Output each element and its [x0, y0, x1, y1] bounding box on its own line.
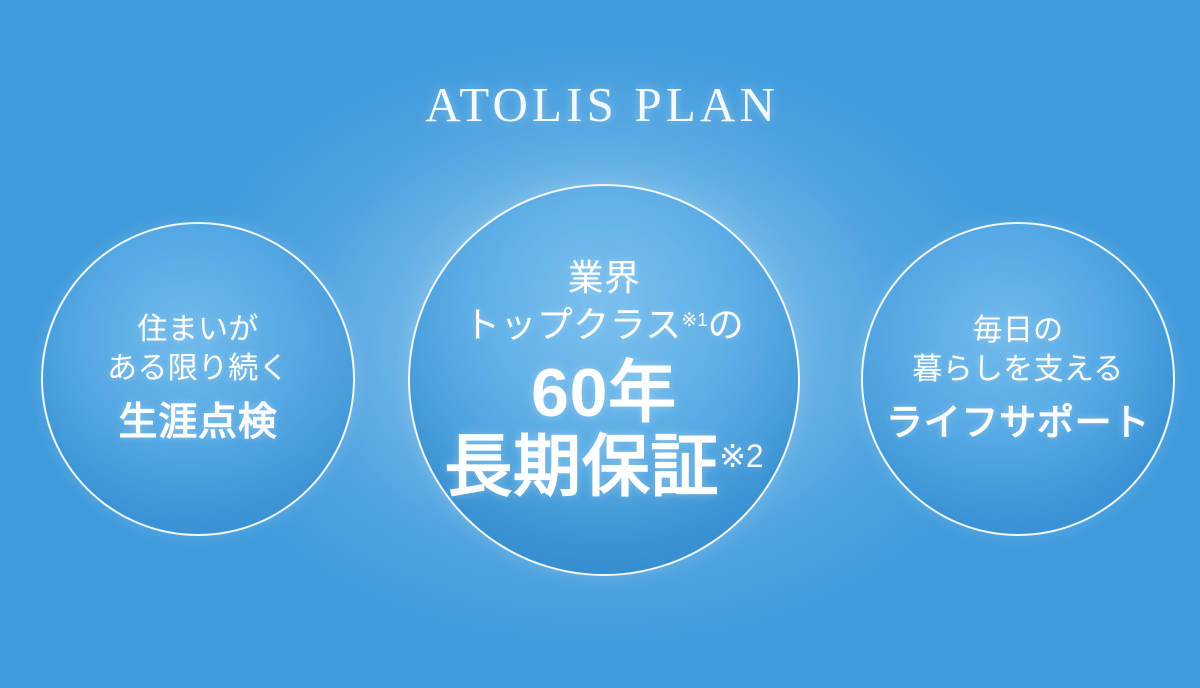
- center-circle-line-2-tail: の: [708, 304, 744, 345]
- left-circle-headline: 生涯点検: [118, 398, 277, 449]
- feature-circle-60-year-warranty: 業界 トップクラス※1の 60年 長期保証※2: [408, 184, 800, 576]
- right-circle-headline: ライフサポート: [886, 399, 1150, 447]
- center-circle-line-2: トップクラス※1の: [464, 302, 744, 349]
- center-circle-footnote-2: ※2: [719, 438, 764, 474]
- center-circle-line-1: 業界: [568, 255, 641, 302]
- center-circle-footnote-1: ※1: [682, 309, 708, 330]
- feature-circle-life-support: 毎日の 暮らしを支える ライフサポート: [861, 222, 1175, 536]
- page-title: ATOLIS PLAN: [0, 78, 1200, 132]
- feature-circle-lifetime-inspection: 住まいが ある限り続く 生涯点検: [41, 222, 355, 536]
- center-circle-line-2-text: トップクラス: [464, 304, 681, 345]
- left-circle-line-2: ある限り続く: [107, 349, 289, 388]
- right-circle-line-2: 暮らしを支える: [912, 350, 1123, 389]
- left-circle-line-1: 住まいが: [137, 310, 258, 349]
- right-circle-line-1: 毎日の: [973, 311, 1064, 350]
- center-circle-headline-years: 60年: [531, 355, 677, 431]
- center-circle-headline-warranty-text: 長期保証: [444, 429, 719, 505]
- atolis-plan-banner: ATOLIS PLAN 住まいが ある限り続く 生涯点検 業界 トップクラス※1…: [0, 0, 1200, 688]
- center-circle-headline-warranty: 長期保証※2: [444, 429, 763, 505]
